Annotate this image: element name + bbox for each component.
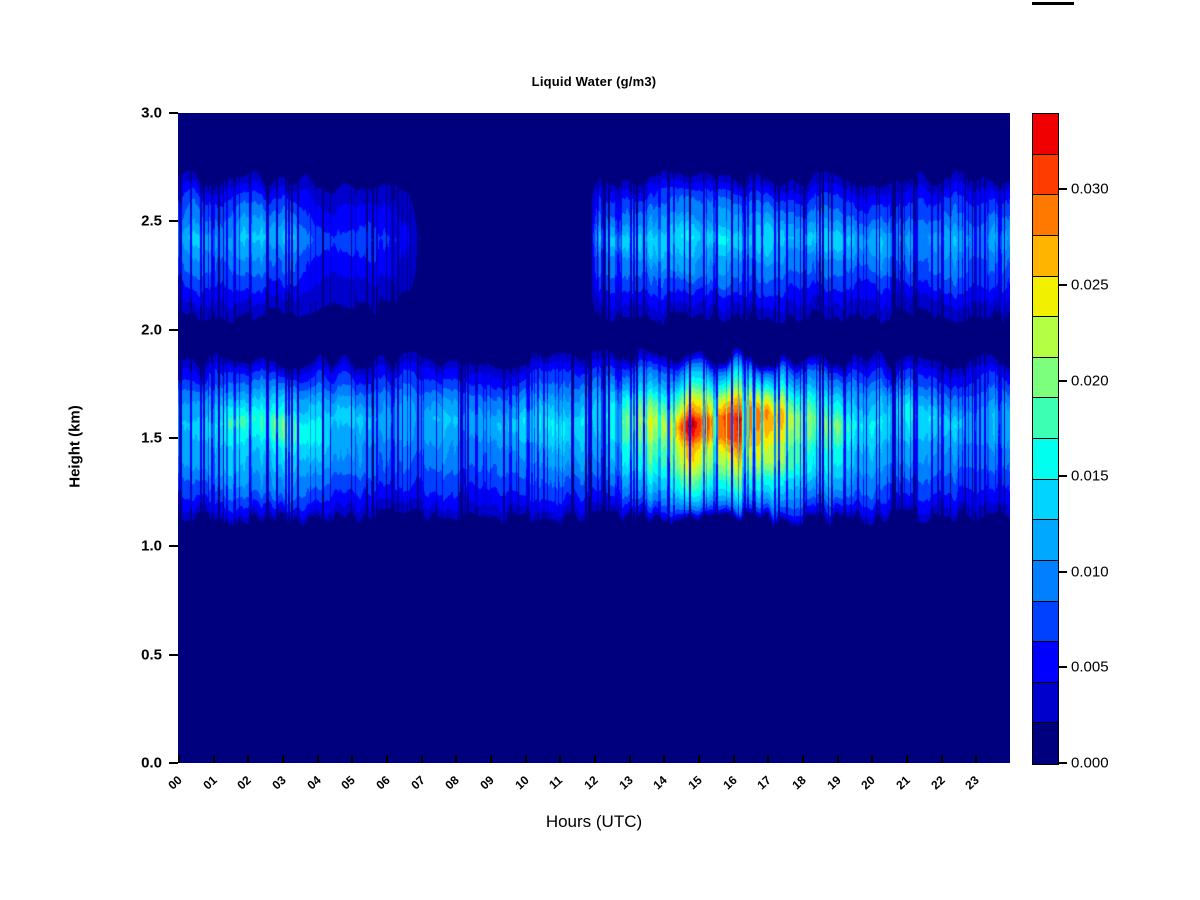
x-tick-label: 00	[165, 773, 184, 792]
x-tick-mark	[906, 755, 908, 763]
x-tick-mark	[767, 755, 769, 763]
y-tick-mark	[169, 112, 178, 114]
colorbar-band	[1033, 317, 1058, 358]
x-tick-label: 22	[928, 773, 947, 792]
y-tick-label: 1.0	[102, 538, 162, 555]
colorbar-band	[1033, 561, 1058, 602]
colorbar-separator	[1033, 601, 1058, 602]
colorbar-band	[1033, 195, 1058, 236]
colorbar-tick-label: 0.005	[1071, 659, 1109, 676]
colorbar-separator	[1033, 560, 1058, 561]
colorbar-band	[1033, 439, 1058, 480]
x-tick-label: 12	[581, 773, 600, 792]
colorbar-separator	[1033, 519, 1058, 520]
colorbar-tick-mark	[1059, 188, 1067, 190]
colorbar-tick-label: 0.015	[1071, 468, 1109, 485]
figure-canvas: Liquid Water (g/m3) 0.00.51.01.52.02.53.…	[0, 0, 1200, 900]
colorbar-separator	[1033, 479, 1058, 480]
x-tick-mark	[941, 755, 943, 763]
colorbar-band	[1033, 479, 1058, 520]
x-tick-mark	[802, 755, 804, 763]
y-tick-label: 2.5	[102, 213, 162, 230]
x-tick-label: 13	[616, 773, 635, 792]
y-axis-title: Height (km)	[67, 367, 84, 527]
x-tick-mark	[525, 755, 527, 763]
colorbar-separator	[1033, 316, 1058, 317]
x-tick-label: 05	[339, 773, 358, 792]
y-tick-mark	[169, 329, 178, 331]
x-tick-mark	[975, 755, 977, 763]
x-tick-mark	[213, 755, 215, 763]
x-tick-label: 01	[200, 773, 219, 792]
x-tick-label: 19	[824, 773, 843, 792]
colorbar-band	[1033, 154, 1058, 195]
top-edge-artifact	[1032, 2, 1074, 5]
colorbar	[1032, 113, 1059, 765]
colorbar-separator	[1033, 397, 1058, 398]
colorbar-tick-mark	[1059, 284, 1067, 286]
y-tick-label: 2.0	[102, 321, 162, 338]
x-tick-mark	[733, 755, 735, 763]
x-axis-title: Hours (UTC)	[178, 812, 1010, 832]
y-tick-mark	[169, 220, 178, 222]
colorbar-separator	[1033, 276, 1058, 277]
x-tick-label: 04	[304, 773, 323, 792]
x-tick-mark	[629, 755, 631, 763]
colorbar-separator	[1033, 357, 1058, 358]
x-tick-label: 08	[443, 773, 462, 792]
colorbar-tick-label: 0.000	[1071, 755, 1109, 772]
x-tick-mark	[247, 755, 249, 763]
colorbar-band	[1033, 682, 1058, 723]
page-title: Liquid Water (g/m3)	[178, 74, 1010, 89]
y-tick-mark	[169, 545, 178, 547]
y-tick-label: 3.0	[102, 105, 162, 122]
colorbar-band	[1033, 723, 1058, 764]
x-tick-label: 02	[235, 773, 254, 792]
x-tick-label: 15	[685, 773, 704, 792]
y-tick-label: 0.5	[102, 646, 162, 663]
x-tick-mark	[698, 755, 700, 763]
x-tick-label: 18	[789, 773, 808, 792]
y-tick-mark	[169, 437, 178, 439]
x-tick-label: 03	[269, 773, 288, 792]
colorbar-tick-mark	[1059, 571, 1067, 573]
x-tick-mark	[386, 755, 388, 763]
y-tick-label: 0.0	[102, 755, 162, 772]
x-tick-mark	[455, 755, 457, 763]
y-tick-mark	[169, 762, 178, 764]
colorbar-band	[1033, 601, 1058, 642]
x-tick-label: 23	[963, 773, 982, 792]
colorbar-separator	[1033, 154, 1058, 155]
x-tick-label: 10	[512, 773, 531, 792]
heatmap-canvas	[178, 113, 1010, 763]
colorbar-tick-label: 0.010	[1071, 563, 1109, 580]
x-tick-label: 16	[720, 773, 739, 792]
colorbar-separator	[1033, 641, 1058, 642]
y-tick-label: 1.5	[102, 430, 162, 447]
colorbar-tick-label: 0.025	[1071, 277, 1109, 294]
x-tick-label: 06	[373, 773, 392, 792]
colorbar-band	[1033, 276, 1058, 317]
colorbar-separator	[1033, 438, 1058, 439]
x-tick-mark	[594, 755, 596, 763]
colorbar-tick-mark	[1059, 475, 1067, 477]
colorbar-tick-label: 0.020	[1071, 372, 1109, 389]
x-tick-label: 20	[859, 773, 878, 792]
colorbar-band	[1033, 398, 1058, 439]
colorbar-band	[1033, 236, 1058, 277]
colorbar-band	[1033, 520, 1058, 561]
colorbar-tick-label: 0.030	[1071, 181, 1109, 198]
colorbar-tick-mark	[1059, 666, 1067, 668]
colorbar-separator	[1033, 682, 1058, 683]
x-tick-mark	[351, 755, 353, 763]
x-tick-label: 11	[547, 773, 566, 792]
x-tick-mark	[282, 755, 284, 763]
colorbar-separator	[1033, 235, 1058, 236]
x-tick-mark	[663, 755, 665, 763]
x-tick-mark	[871, 755, 873, 763]
x-tick-label: 09	[477, 773, 496, 792]
colorbar-band	[1033, 114, 1058, 155]
x-tick-mark	[317, 755, 319, 763]
x-tick-mark	[490, 755, 492, 763]
x-tick-label: 17	[755, 773, 774, 792]
colorbar-tick-mark	[1059, 380, 1067, 382]
x-tick-mark	[178, 755, 180, 763]
x-tick-mark	[421, 755, 423, 763]
heatmap-plot-area	[178, 113, 1010, 763]
x-tick-mark	[837, 755, 839, 763]
colorbar-tick-mark	[1059, 762, 1067, 764]
x-tick-mark	[559, 755, 561, 763]
colorbar-band	[1033, 357, 1058, 398]
x-tick-label: 14	[651, 773, 670, 792]
x-tick-label: 07	[408, 773, 427, 792]
x-tick-label: 21	[893, 773, 912, 792]
y-tick-mark	[169, 654, 178, 656]
colorbar-separator	[1033, 194, 1058, 195]
colorbar-band	[1033, 642, 1058, 683]
colorbar-separator	[1033, 722, 1058, 723]
